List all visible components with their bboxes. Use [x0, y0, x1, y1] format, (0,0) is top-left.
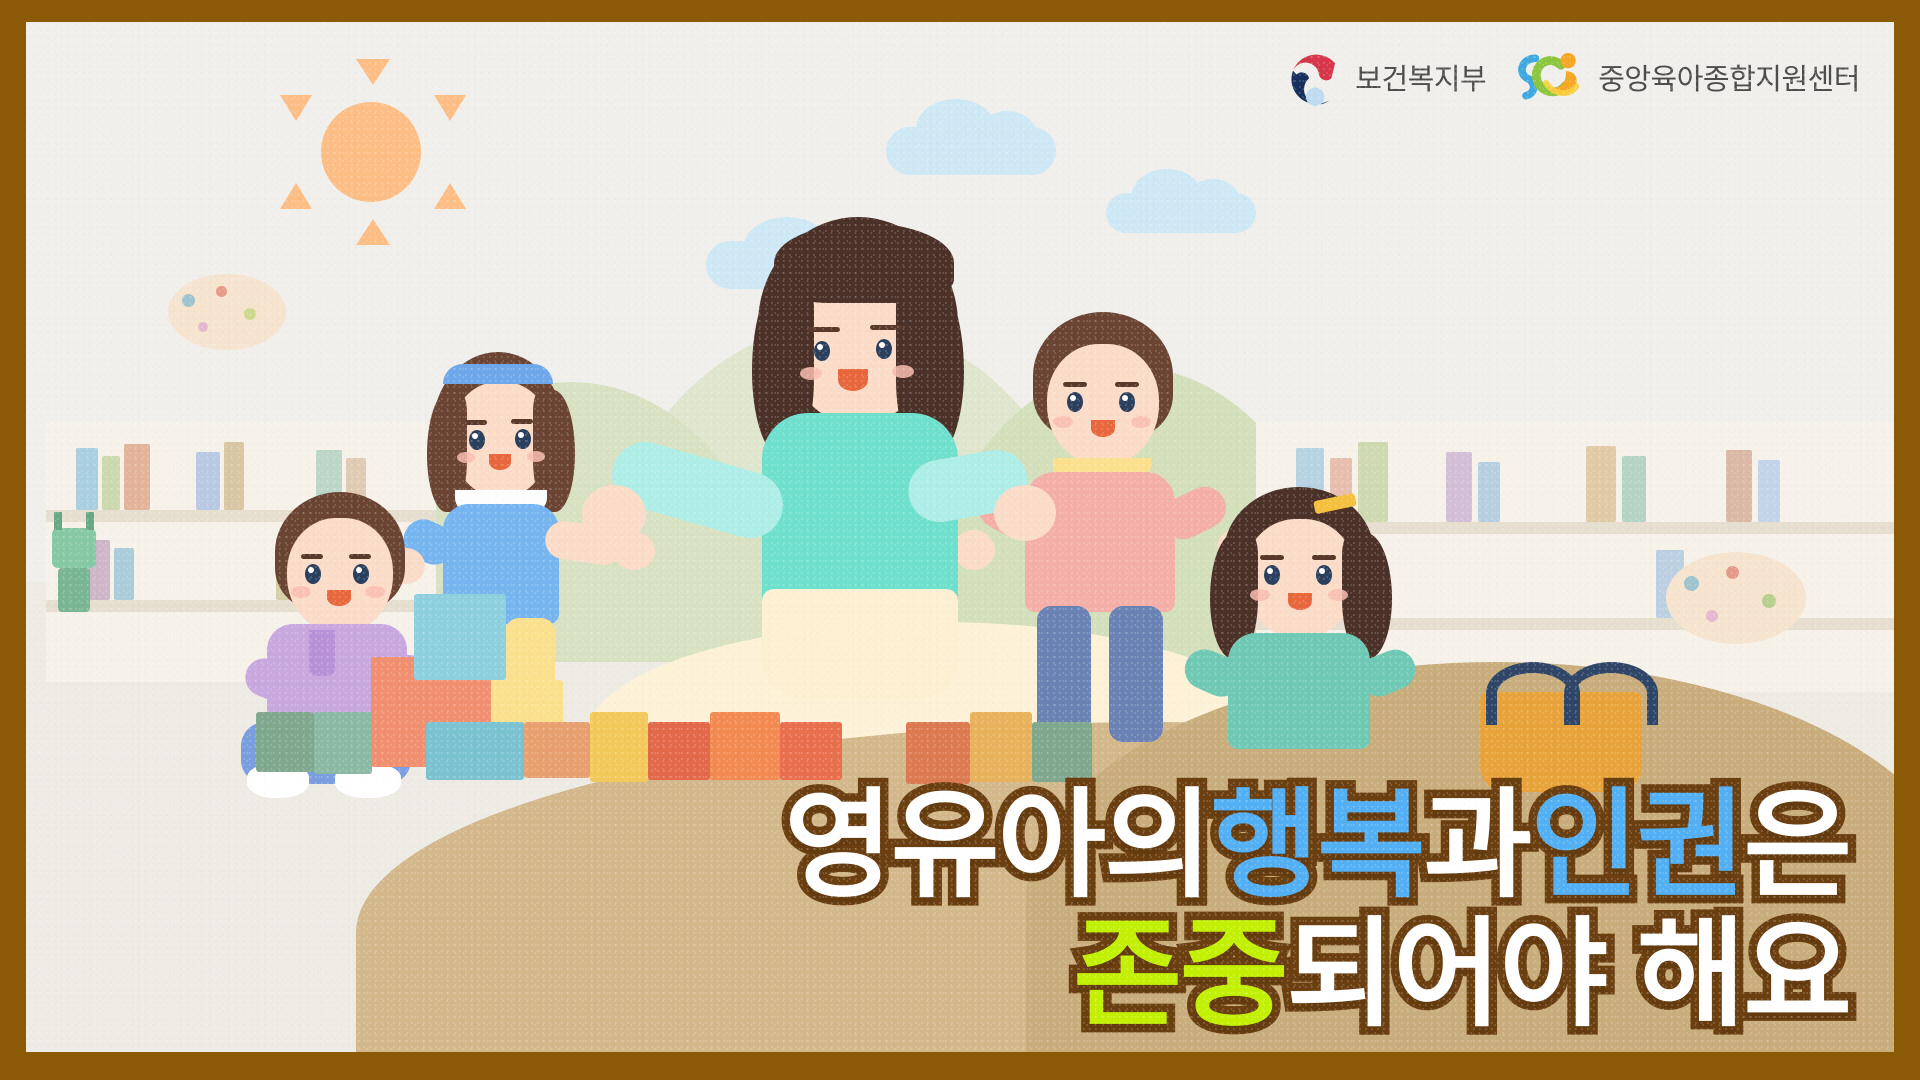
headline-seg-4: 인권	[1530, 789, 1743, 905]
toy-block	[426, 722, 524, 780]
toy-block	[414, 594, 506, 680]
toy-block	[906, 722, 970, 784]
toy-block	[780, 722, 842, 780]
sc-swirl-child-logo-icon	[1512, 47, 1588, 107]
headline-line-1: 영유아의 행복과 인권은	[784, 789, 1850, 905]
headline-seg-6: 존중	[1073, 918, 1286, 1034]
polka-ball-decor	[168, 274, 286, 350]
toy-basket	[1456, 662, 1666, 792]
logo-label-childcare-center: 중앙육아종합지원센터	[1598, 56, 1860, 98]
logo-central-childcare-support-center: 중앙육아종합지원센터	[1512, 47, 1860, 107]
korea-taegeuk-government-symbol-icon	[1283, 46, 1345, 108]
logo-ministry-of-health-and-welfare: 보건복지부	[1283, 46, 1486, 108]
logo-label-ministry: 보건복지부	[1355, 56, 1486, 98]
headline-seg-5: 은	[1743, 789, 1850, 905]
illustration-stage: 보건복지부 중앙육아종합지원센터 영유아의 행복과 인권은 존중되어야 해요	[26, 22, 1894, 1052]
headline: 영유아의 행복과 인권은 존중되어야 해요	[784, 789, 1850, 1034]
headline-seg-1: 영유아의	[784, 789, 1210, 905]
toy-block	[524, 722, 590, 778]
polka-ball-decor	[1666, 552, 1806, 644]
toy-block	[590, 712, 648, 782]
person-teacher	[726, 217, 1016, 677]
headline-line-2: 존중되어야 해요	[784, 918, 1850, 1034]
teacher-hand-right	[994, 485, 1056, 541]
toy-block	[256, 712, 314, 772]
poster-frame: 보건복지부 중앙육아종합지원센터 영유아의 행복과 인권은 존중되어야 해요	[0, 0, 1920, 1080]
toy-robot	[44, 512, 104, 622]
person-girl-teal-shirt	[1206, 487, 1406, 747]
toy-block	[970, 712, 1032, 782]
toy-block	[314, 712, 372, 774]
headline-seg-2: 행복	[1211, 789, 1424, 905]
sun-icon	[276, 57, 466, 247]
toy-block	[1032, 722, 1092, 782]
toy-block	[710, 712, 780, 780]
hairband	[443, 364, 553, 384]
logo-bar: 보건복지부 중앙육아종합지원센터	[1283, 46, 1860, 108]
teacher-hand-left	[582, 485, 646, 543]
headline-seg-7: 되어야 해요	[1286, 918, 1850, 1034]
headline-seg-3: 과	[1424, 789, 1531, 905]
toy-block	[648, 722, 710, 780]
